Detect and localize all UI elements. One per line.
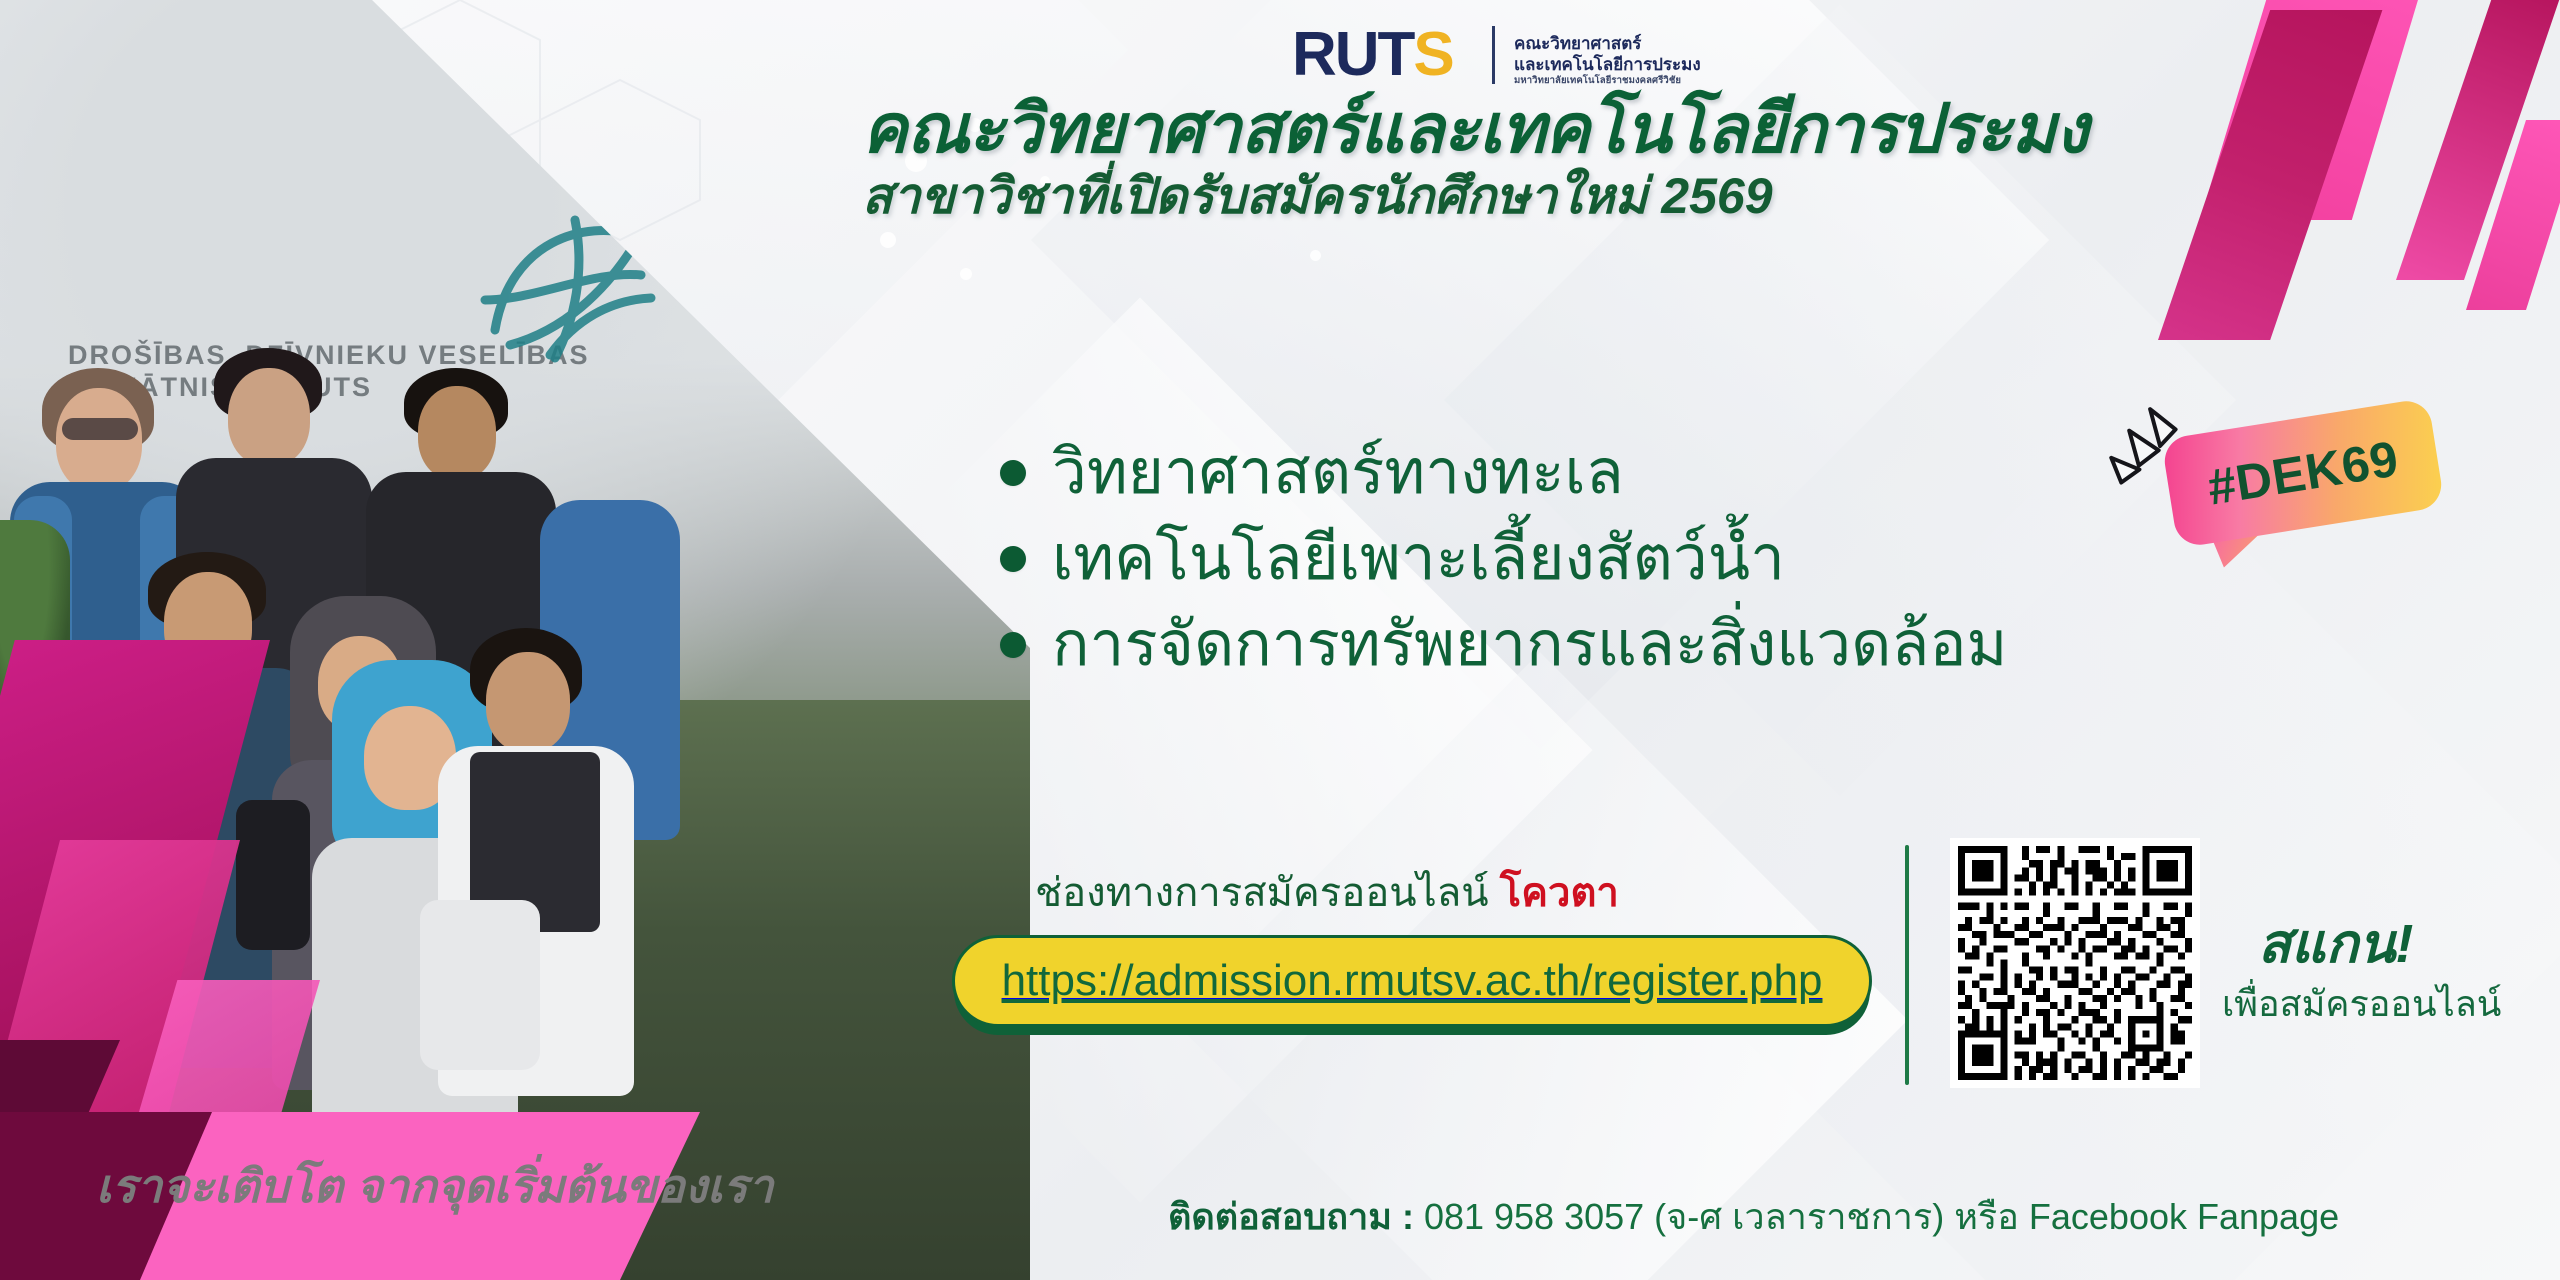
institute-logo-icon (455, 180, 675, 380)
speckle (960, 268, 972, 280)
major-label: เทคโนโลยีเพาะเลี้ยงสัตว์น้ำ (1052, 528, 1785, 590)
contact-value: 081 958 3057 (จ-ศ เวลาราชการ) หรือ Faceb… (1424, 1196, 2339, 1237)
contact-line: ติดต่อสอบถาม : 081 958 3057 (จ-ศ เวลาราช… (1168, 1188, 2339, 1245)
register-url-text: https://admission.rmutsv.ac.th/register.… (1002, 956, 1823, 1006)
apply-channel-label: ช่องทางการสมัครออนไลน์ โควตา (1035, 860, 1619, 924)
bullet-icon (1000, 460, 1026, 486)
scan-headline: สแกน! (2258, 900, 2413, 986)
list-item: วิทยาศาสตร์ทางทะเล (1000, 430, 2007, 516)
bullet-icon (1000, 632, 1026, 658)
majors-list: วิทยาศาสตร์ทางทะเล เทคโนโลยีเพาะเลี้ยงสั… (1000, 430, 2007, 688)
vertical-divider (1905, 845, 1909, 1085)
major-label: การจัดการทรัพยากรและสิ่งแวดล้อม (1052, 614, 2007, 676)
tote-bag (420, 900, 540, 1070)
ruts-logo: RUTS คณะวิทยาศาสตร์ และเทคโนโลยีการประมง… (1292, 18, 1712, 94)
scan-subtext: เพื่อสมัครออนไลน์ (2222, 975, 2501, 1032)
list-item: การจัดการทรัพยากรและสิ่งแวดล้อม (1000, 602, 2007, 688)
tagline-text: เราจะเติบโต จากจุดเริ่มต้นของเรา (96, 1150, 773, 1223)
logo-university-line: มหาวิทยาลัยเทคโนโลยีราชมงคลศรีวิชัย (1514, 73, 1681, 88)
apply-channel-text: ช่องทางการสมัครออนไลน์ (1035, 871, 1500, 915)
register-url-button[interactable]: https://admission.rmutsv.ac.th/register.… (952, 935, 1872, 1027)
list-item: เทคโนโลยีเพาะเลี้ยงสัตว์น้ำ (1000, 516, 2007, 602)
logo-wordmark: RUTS (1292, 24, 1453, 86)
bullet-icon (1000, 546, 1026, 572)
backpack (236, 800, 310, 950)
qr-code-image (1958, 846, 2192, 1080)
logo-divider (1492, 26, 1495, 84)
qr-code[interactable] (1950, 838, 2200, 1088)
page-subtitle: สาขาวิชาที่เปิดรับสมัครนักศึกษาใหม่ 2569 (862, 168, 2162, 226)
badge-label: #DEK69 (2161, 398, 2445, 549)
promo-banner: DROŠĪBAS, DZĪVNIEKU VESELĪBAS S ZINĀTNIS… (0, 0, 2560, 1280)
major-label: วิทยาศาสตร์ทางทะเล (1052, 442, 1624, 504)
contact-label: ติดต่อสอบถาม : (1168, 1196, 1424, 1237)
page-title: คณะวิทยาศาสตร์และเทคโนโลยีการประมง (862, 92, 2162, 167)
logo-wordmark-main: RUT (1292, 20, 1413, 89)
logo-wordmark-accent: S (1413, 20, 1452, 89)
speckle (1310, 250, 1321, 261)
apply-channel-highlight: โควตา (1500, 871, 1619, 915)
speckle (880, 232, 896, 248)
dek69-badge: #DEK69 (2161, 398, 2445, 549)
